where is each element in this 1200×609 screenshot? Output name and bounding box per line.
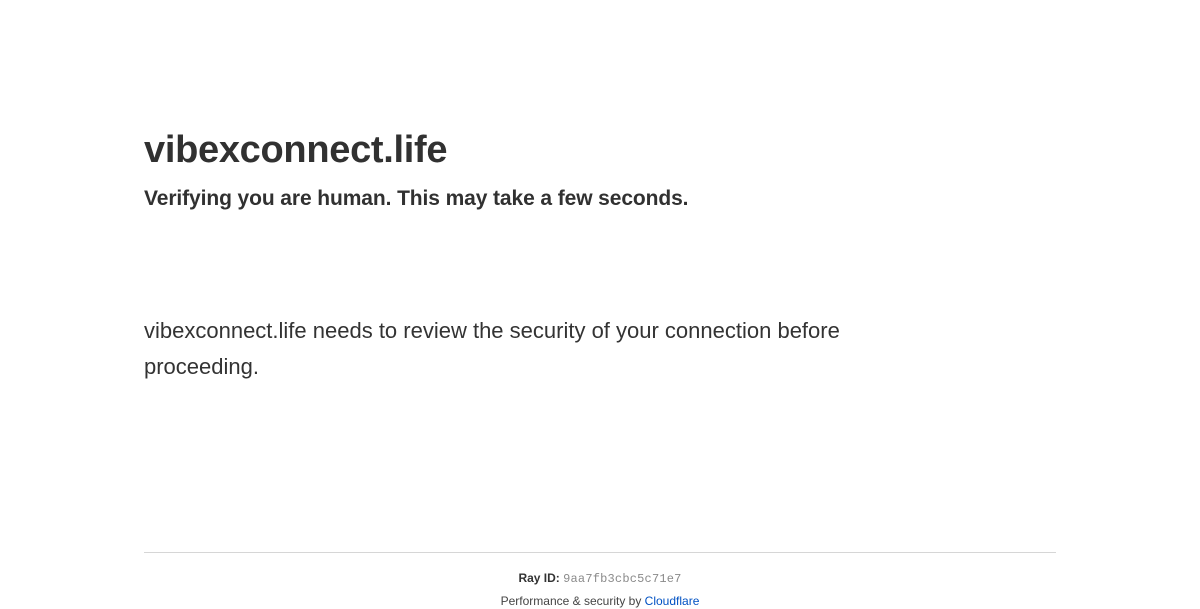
turnstile-widget-placeholder[interactable] — [144, 212, 1056, 290]
page-title: vibexconnect.life — [144, 128, 1056, 172]
verification-status-text: Verifying you are human. This may take a… — [144, 172, 1056, 212]
interstitial-challenge-page: vibexconnect.life Verifying you are huma… — [0, 0, 1200, 600]
challenge-content: vibexconnect.life Verifying you are huma… — [144, 0, 1056, 385]
security-review-message: vibexconnect.life needs to review the se… — [144, 290, 944, 385]
ray-id-value: 9aa7fb3cbc5c71e7 — [563, 572, 681, 586]
page-footer: Ray ID: 9aa7fb3cbc5c71e7 Performance & s… — [144, 552, 1056, 609]
ray-id-line: Ray ID: 9aa7fb3cbc5c71e7 — [144, 553, 1056, 587]
cloudflare-link[interactable]: Cloudflare — [645, 594, 700, 608]
attribution-line: Performance & security by Cloudflare — [144, 587, 1056, 609]
heading-block: vibexconnect.life Verifying you are huma… — [144, 0, 1056, 212]
attribution-prefix-text: Performance & security by — [501, 594, 645, 608]
ray-id-label: Ray ID: — [518, 571, 559, 585]
